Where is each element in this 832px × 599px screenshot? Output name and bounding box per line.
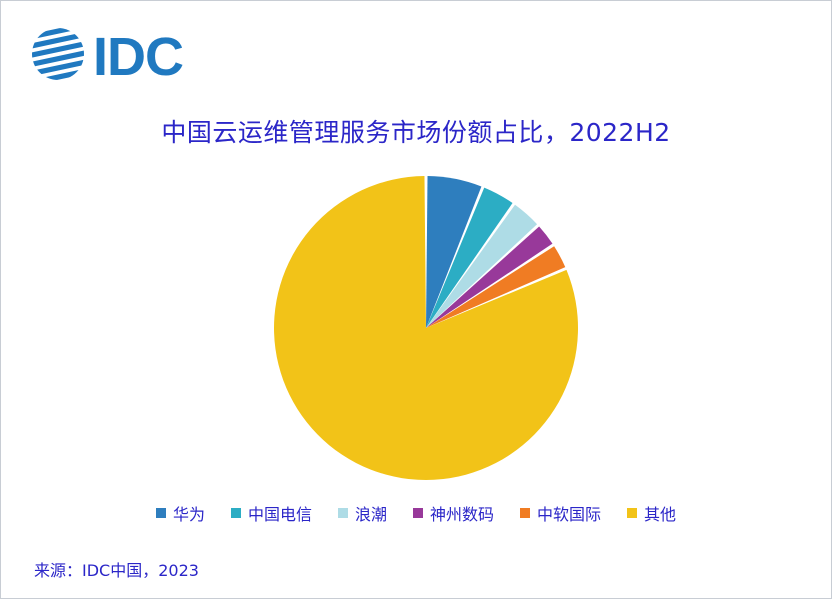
idc-logo: IDC (29, 25, 183, 88)
legend-item[interactable]: 浪潮 (338, 501, 387, 525)
legend-item-label: 其他 (644, 501, 676, 525)
legend-swatch-icon (338, 508, 348, 518)
legend-swatch-icon (156, 508, 166, 518)
legend-item-label: 华为 (173, 501, 205, 525)
source-note: 来源：IDC中国，2023 (34, 557, 199, 581)
legend-item-label: 浪潮 (355, 501, 387, 525)
chart-title: 中国云运维管理服务市场份额占比，2022H2 (1, 113, 831, 149)
legend-item[interactable]: 华为 (156, 501, 205, 525)
legend-swatch-icon (520, 508, 530, 518)
globe-icon (29, 25, 87, 88)
legend-item-label: 中国电信 (248, 501, 312, 525)
pie-slice-group (274, 176, 578, 480)
legend-item-label: 中软国际 (537, 501, 601, 525)
pie-chart-svg (271, 173, 581, 483)
legend-item[interactable]: 神州数码 (413, 501, 494, 525)
legend-item[interactable]: 中国电信 (231, 501, 312, 525)
legend-item[interactable]: 中软国际 (520, 501, 601, 525)
legend-item-label: 神州数码 (430, 501, 494, 525)
chart-legend: 华为中国电信浪潮神州数码中软国际其他 (1, 501, 831, 525)
legend-item[interactable]: 其他 (627, 501, 676, 525)
idc-wordmark: IDC (93, 30, 183, 84)
chart-page: IDC 中国云运维管理服务市场份额占比，2022H2 华为中国电信浪潮神州数码中… (0, 0, 832, 599)
pie-chart (271, 173, 581, 483)
legend-swatch-icon (627, 508, 637, 518)
legend-swatch-icon (413, 508, 423, 518)
legend-swatch-icon (231, 508, 241, 518)
